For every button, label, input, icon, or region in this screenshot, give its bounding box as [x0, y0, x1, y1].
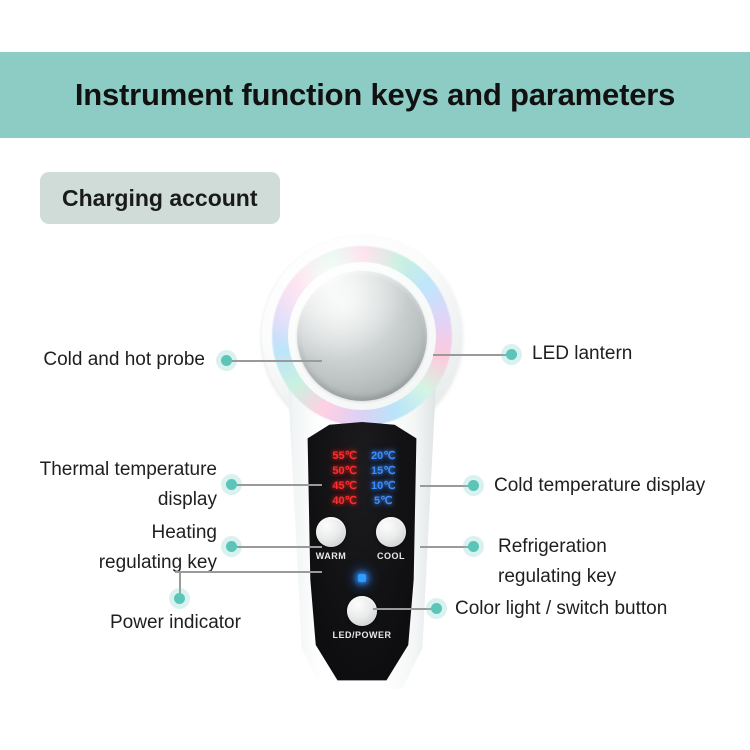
leader-heating-regulating-key: [237, 546, 322, 548]
label-line: Thermal temperature: [10, 455, 217, 485]
power-indicator-led: [358, 574, 366, 582]
page-title: Instrument function keys and parameters: [75, 77, 675, 113]
led-power-button[interactable]: [347, 596, 377, 626]
label-line: display: [10, 485, 217, 515]
warm-button-label: WARM: [306, 551, 356, 561]
label-thermal-temperature-display: Thermal temperature display: [10, 455, 217, 515]
dot-cold-temperature-display: [468, 480, 479, 491]
cool-button[interactable]: [376, 517, 406, 547]
label-line: LED lantern: [532, 339, 732, 369]
label-line: Color light / switch button: [455, 594, 745, 624]
label-line: Heating: [10, 518, 217, 548]
label-power-indicator: Power indicator: [110, 608, 330, 638]
hot-temp-value: 50℃: [332, 465, 357, 477]
label-refrigeration-regulating-key: Refrigeration regulating key: [498, 532, 728, 592]
label-line: regulating key: [498, 562, 728, 592]
label-line: Cold temperature display: [494, 471, 744, 501]
label-line: Cold and hot probe: [10, 345, 205, 375]
led-power-button-label: LED/POWER: [322, 630, 402, 640]
leader-power-indicator-vertical: [179, 571, 181, 595]
leader-cold-temperature-display: [420, 485, 470, 487]
dot-led-lantern: [506, 349, 517, 360]
label-line: regulating key: [10, 548, 217, 578]
label-heating-regulating-key: Heating regulating key: [10, 518, 217, 578]
dot-cold-and-hot-probe: [221, 355, 232, 366]
cold-temp-value: 20℃: [371, 450, 396, 462]
label-line: Power indicator: [110, 608, 330, 638]
cold-hot-probe-plate: [297, 271, 427, 401]
thermal-temperature-column: 55℃ 50℃ 45℃ 40℃: [332, 450, 357, 507]
hot-temp-value: 45℃: [332, 480, 357, 492]
hot-temp-value: 40℃: [332, 495, 357, 507]
leader-refrigeration-regulating-key: [420, 546, 470, 548]
dot-heating-regulating-key: [226, 541, 237, 552]
leader-power-indicator: [175, 571, 322, 573]
leader-color-light-switch-button: [373, 608, 433, 610]
label-cold-temperature-display: Cold temperature display: [494, 471, 744, 501]
warm-button[interactable]: [316, 517, 346, 547]
cold-temp-value: 10℃: [371, 480, 396, 492]
cold-temp-value: 15℃: [371, 465, 396, 477]
label-line: Refrigeration: [498, 532, 728, 562]
leader-thermal-temperature-display: [237, 484, 322, 486]
temperature-display: 55℃ 50℃ 45℃ 40℃ 20℃ 15℃ 10℃ 5℃: [310, 450, 418, 507]
label-cold-and-hot-probe: Cold and hot probe: [10, 345, 205, 375]
dot-thermal-temperature-display: [226, 479, 237, 490]
cool-button-label: COOL: [366, 551, 416, 561]
cold-temp-value: 5℃: [371, 495, 396, 507]
dot-color-light-switch-button: [431, 603, 442, 614]
leader-cold-and-hot-probe: [232, 360, 322, 362]
label-led-lantern: LED lantern: [532, 339, 732, 369]
section-pill-label: Charging account: [62, 185, 258, 212]
cold-temperature-column: 20℃ 15℃ 10℃ 5℃: [371, 450, 396, 507]
dot-refrigeration-regulating-key: [468, 541, 479, 552]
infographic-page: Instrument function keys and parameters …: [0, 0, 750, 750]
leader-led-lantern: [433, 354, 508, 356]
hot-temp-value: 55℃: [332, 450, 357, 462]
dot-power-indicator: [174, 593, 185, 604]
label-color-light-switch-button: Color light / switch button: [455, 594, 745, 624]
section-pill: Charging account: [40, 172, 280, 224]
header-band: Instrument function keys and parameters: [0, 52, 750, 138]
